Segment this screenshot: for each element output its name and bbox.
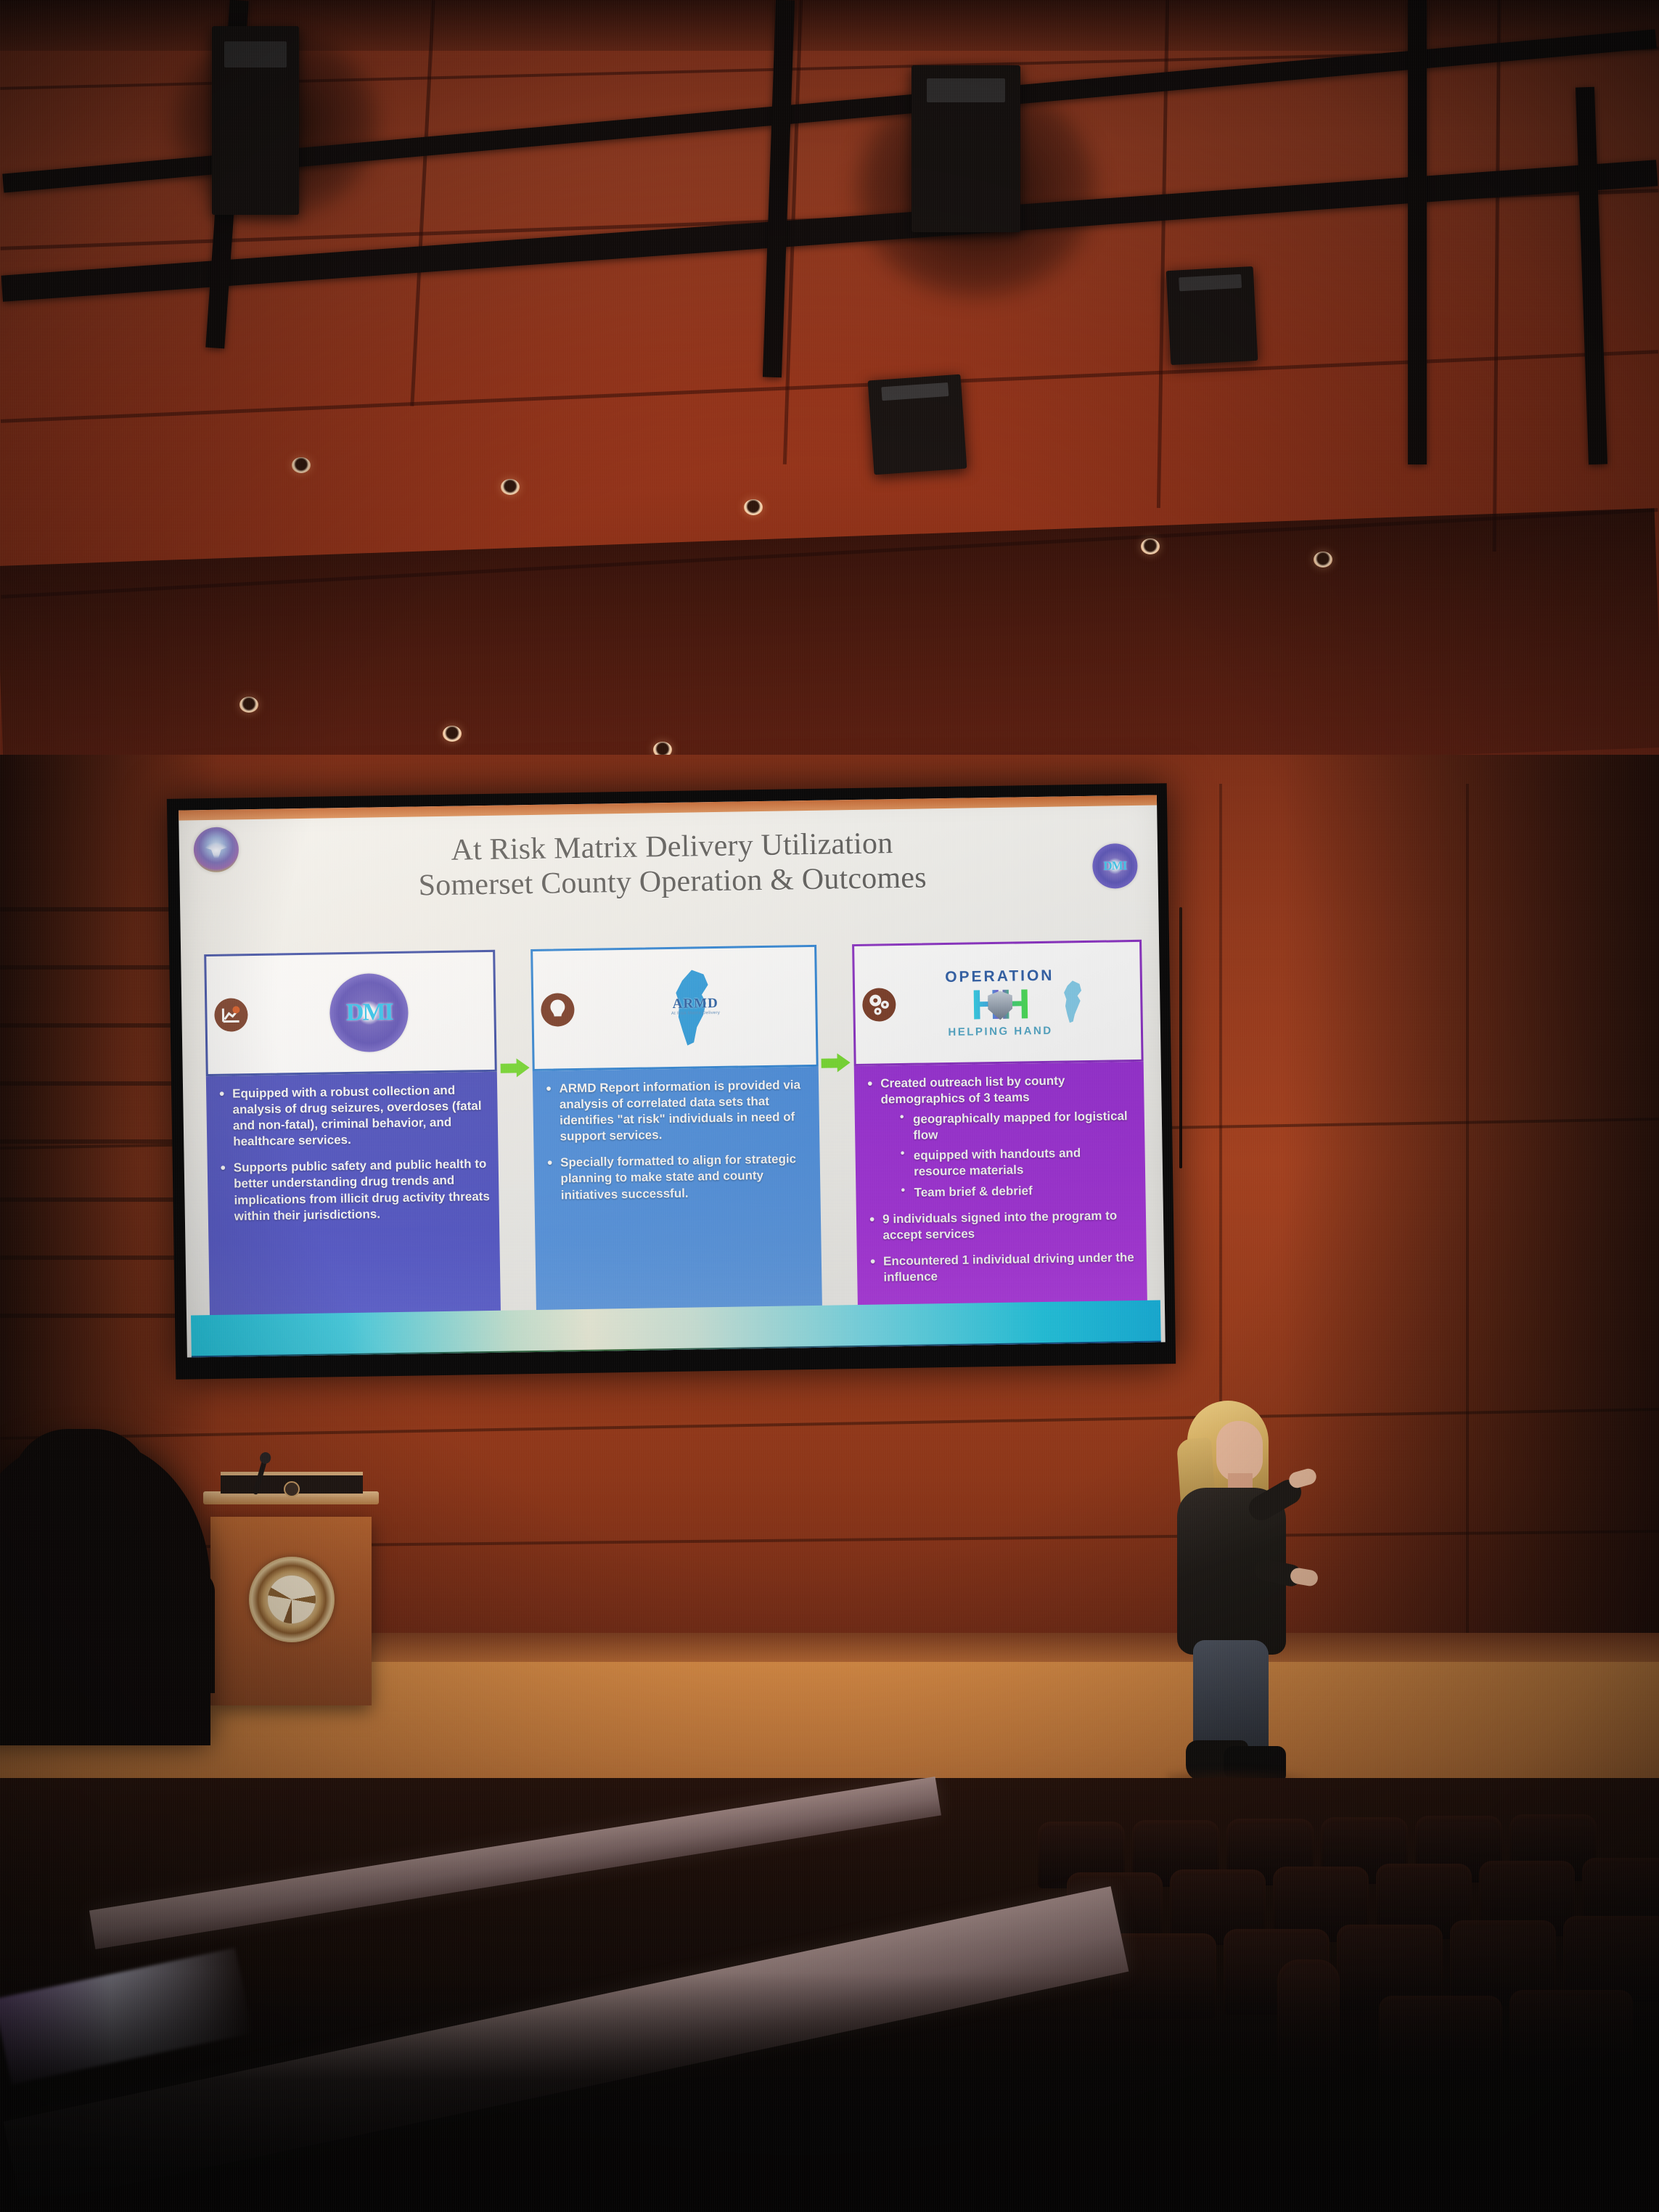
dmi-seal-icon (1092, 843, 1138, 889)
stockton-university-seal (249, 1557, 335, 1642)
ceiling-wood-panels (0, 0, 1659, 777)
ceiling-downlight (744, 499, 763, 515)
bullet-text: Created outreach list by county demograp… (880, 1073, 1065, 1106)
ceiling-speaker (1166, 266, 1258, 365)
card-ohh: OPERATION HH HELPING HAND (852, 940, 1149, 1358)
podium-control-panel (221, 1472, 363, 1496)
ceiling-speaker (212, 26, 299, 215)
armd-logo: ARMD At Risk Matrix Delivery (578, 966, 808, 1049)
bullet: Created outreach list by county demograp… (864, 1072, 1137, 1201)
chart-trend-icon (214, 998, 248, 1032)
ceiling-truss-vertical (1576, 87, 1607, 465)
arrow-cell (495, 949, 533, 1078)
flow-column-ohh: OPERATION HH HELPING HAND (852, 940, 1149, 1358)
projection-screen-surface: At Risk Matrix Delivery Utilization Some… (179, 795, 1166, 1357)
bullet: Equipped with a robust collection and an… (216, 1082, 489, 1150)
auditorium-photo: At Risk Matrix Delivery Utilization Some… (0, 0, 1659, 2212)
ceiling-downlight (1314, 552, 1332, 568)
ceiling-speaker (868, 374, 967, 475)
arrow-cell (816, 944, 854, 1073)
dmi-logo (252, 972, 487, 1054)
slide-flow-columns: Equipped with a robust collection and an… (204, 940, 1147, 1325)
card-dmi-header (204, 950, 496, 1076)
slide-title: At Risk Matrix Delivery Utilization Some… (271, 824, 1074, 906)
dod-seal-icon (193, 827, 239, 872)
ohh-logo-bottom: HELPING HAND (948, 1025, 1052, 1037)
slide-title-line2: Somerset County Operation & Outcomes (271, 859, 1074, 906)
sub-bullet: Team brief & debrief (899, 1181, 1136, 1201)
audience-member-silhouette (0, 1441, 210, 1745)
ceiling-downlight (292, 457, 311, 473)
bullet: Encountered 1 individual driving under t… (867, 1250, 1139, 1286)
armd-logo-text: ARMD (634, 996, 757, 1012)
flow-column-dmi: Equipped with a robust collection and an… (204, 950, 501, 1358)
presenter-jeans (1193, 1640, 1269, 1756)
ceiling-downlight (443, 726, 462, 742)
flow-column-armd: ARMD At Risk Matrix Delivery ARMD Report… (531, 945, 823, 1358)
presenter (1161, 1401, 1335, 1793)
slide-title-line1: At Risk Matrix Delivery Utilization (451, 827, 893, 867)
card-armd: ARMD At Risk Matrix Delivery ARMD Report… (531, 945, 823, 1358)
ceiling-downlight (1141, 538, 1160, 554)
sub-bullet: equipped with handouts and resource mate… (899, 1144, 1137, 1180)
card-dmi: Equipped with a robust collection and an… (204, 950, 501, 1358)
gears-icon (862, 988, 896, 1022)
flow-arrow-icon (822, 1053, 851, 1073)
ceiling-downlight (239, 697, 258, 713)
operation-helping-hand-logo: OPERATION HH HELPING HAND (900, 967, 1134, 1038)
sub-bullet: geographically mapped for logistical flo… (898, 1108, 1136, 1144)
card-ohh-header: OPERATION HH HELPING HAND (852, 940, 1143, 1066)
ceiling-speaker (912, 65, 1020, 232)
ceiling-truss-vertical (1408, 0, 1427, 464)
bullet: ARMD Report information is provided via … (543, 1077, 810, 1145)
hanging-cable (1179, 907, 1182, 1168)
bullet: Specially formatted to align for strateg… (544, 1151, 811, 1203)
bullet: Supports public safety and public health… (218, 1156, 491, 1224)
foreground-darkness (0, 1973, 1659, 2212)
bullet: 9 individuals signed into the program to… (867, 1208, 1138, 1244)
ceiling-downlight (501, 479, 520, 495)
flow-arrow-icon (500, 1058, 529, 1078)
lightbulb-icon (541, 993, 575, 1027)
dmi-logo-mark (329, 973, 409, 1053)
new-jersey-map-icon (1059, 980, 1089, 1023)
card-armd-header: ARMD At Risk Matrix Delivery (531, 945, 819, 1071)
projection-screen-frame: At Risk Matrix Delivery Utilization Some… (167, 783, 1176, 1380)
presenter-raised-hand (1287, 1467, 1319, 1490)
presentation-slide: At Risk Matrix Delivery Utilization Some… (183, 806, 1160, 1358)
